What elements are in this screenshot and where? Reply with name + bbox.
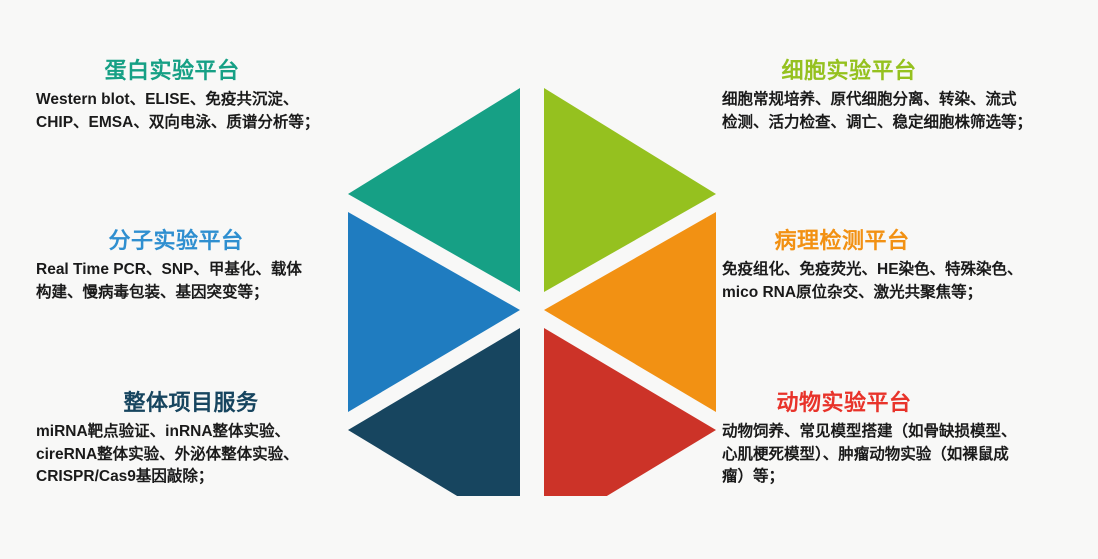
panel-overall: 整体项目服务 miRNA靶点验证、inRNA整体实验、 cireRNA整体实验、… <box>36 390 366 489</box>
panel-protein: 蛋白实验平台 Western blot、ELISE、免疫共沉淀、 CHIP、EM… <box>36 58 366 134</box>
panel-pathology-body: 免疫组化、免疫荧光、HE染色、特殊染色、 mico RNA原位杂交、激光共聚焦等… <box>722 259 1082 304</box>
panel-pathology: 病理检测平台 免疫组化、免疫荧光、HE染色、特殊染色、 mico RNA原位杂交… <box>722 228 1082 304</box>
panel-protein-body: Western blot、ELISE、免疫共沉淀、 CHIP、EMSA、双向电泳… <box>36 89 366 134</box>
hexagon-diagram <box>344 82 720 496</box>
panel-animal-body: 动物饲养、常见模型搭建（如骨缺损模型、 心肌梗死模型）、肿瘤动物实验（如裸鼠成 … <box>722 421 1086 488</box>
panel-overall-body: miRNA靶点验证、inRNA整体实验、 cireRNA整体实验、外泌体整体实验… <box>36 421 366 488</box>
panel-protein-title: 蛋白实验平台 <box>36 58 366 83</box>
panel-pathology-title: 病理检测平台 <box>722 228 1082 253</box>
panel-molecule-title: 分子实验平台 <box>36 228 356 253</box>
panel-molecule: 分子实验平台 Real Time PCR、SNP、甲基化、载体 构建、慢病毒包装… <box>36 228 356 304</box>
panel-cell-body: 细胞常规培养、原代细胞分离、转染、流式 检测、活力检查、调亡、稳定细胞株筛选等； <box>722 89 1086 134</box>
panel-molecule-body: Real Time PCR、SNP、甲基化、载体 构建、慢病毒包装、基因突变等； <box>36 259 356 304</box>
panel-animal: 动物实验平台 动物饲养、常见模型搭建（如骨缺损模型、 心肌梗死模型）、肿瘤动物实… <box>722 390 1086 489</box>
infographic-canvas: 蛋白实验平台 Western blot、ELISE、免疫共沉淀、 CHIP、EM… <box>0 0 1098 559</box>
panel-cell: 细胞实验平台 细胞常规培养、原代细胞分离、转染、流式 检测、活力检查、调亡、稳定… <box>722 58 1086 134</box>
hexagon-svg <box>344 82 720 496</box>
panel-animal-title: 动物实验平台 <box>722 390 1086 415</box>
panel-overall-title: 整体项目服务 <box>36 390 366 415</box>
panel-cell-title: 细胞实验平台 <box>722 58 1086 83</box>
